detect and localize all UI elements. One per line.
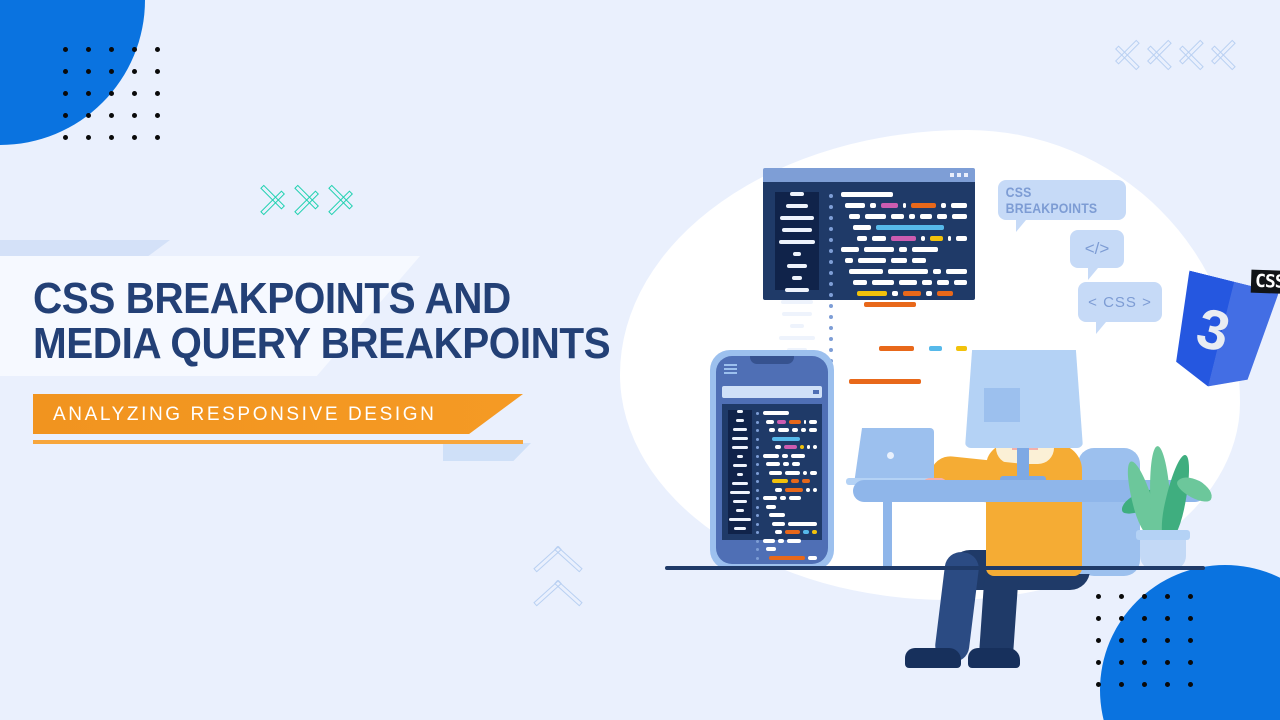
- plant-pot-rim: [1136, 530, 1190, 540]
- grid-dot: [109, 113, 114, 118]
- grid-dot: [1142, 660, 1147, 665]
- grid-dot: [63, 135, 68, 140]
- grid-dot: [132, 113, 137, 118]
- code-token: [876, 313, 884, 318]
- code-token: [787, 539, 801, 543]
- code-token: [879, 346, 914, 351]
- chevron-icon: [1144, 30, 1170, 76]
- code-token: [947, 346, 951, 351]
- desk-leg: [883, 500, 892, 568]
- code-token: [800, 445, 804, 449]
- grid-dot: [155, 91, 160, 96]
- code-token: [775, 445, 781, 449]
- code-line: [845, 203, 967, 208]
- gutter-dot: [829, 227, 833, 231]
- sidebar-line: [782, 228, 812, 232]
- code-token: [845, 258, 853, 263]
- decor-ribbon-upper: [0, 240, 170, 256]
- grid-dot: [63, 113, 68, 118]
- code-line: [853, 335, 967, 340]
- plant-pot: [1140, 536, 1186, 570]
- code-token: [785, 488, 803, 492]
- gutter-dot: [756, 514, 759, 517]
- gutter-dot: [829, 326, 833, 330]
- code-token: [785, 471, 800, 475]
- code-tag-bubble: </>: [1070, 230, 1124, 268]
- code-token: [766, 547, 776, 551]
- sidebar-line: [781, 300, 813, 304]
- code-token: [813, 445, 817, 449]
- gutter-dot: [756, 497, 759, 500]
- code-line: [849, 269, 967, 274]
- grid-dot: [1096, 682, 1101, 687]
- grid-dot: [1165, 638, 1170, 643]
- code-token: [864, 302, 915, 307]
- code-token: [775, 488, 782, 492]
- gutter-dot: [829, 271, 833, 275]
- code-token: [912, 258, 926, 263]
- code-token: [777, 420, 786, 424]
- code-token: [778, 539, 784, 543]
- code-token: [809, 428, 817, 432]
- sidebar-line: [779, 240, 815, 244]
- code-token: [899, 280, 917, 285]
- css-breakpoints-bubble: CSS BREAKPOINTS: [998, 180, 1126, 220]
- code-token: [853, 280, 867, 285]
- code-line: [775, 530, 817, 534]
- sidebar-line: [733, 500, 747, 503]
- window-titlebar: [763, 168, 975, 182]
- page-title: CSS BREAKPOINTS AND MEDIA QUERY BREAKPOI…: [33, 276, 610, 366]
- code-line: [845, 313, 967, 318]
- subtitle-text: ANALYZING RESPONSIVE DESIGN: [53, 404, 436, 426]
- sidebar-line: [733, 428, 747, 431]
- code-line: [857, 236, 967, 241]
- code-token: [783, 462, 789, 466]
- code-editor-window: [763, 168, 975, 300]
- phone-gutter-icons: [756, 412, 759, 565]
- code-line: [845, 258, 967, 263]
- code-token: [789, 496, 801, 500]
- gutter-dot: [756, 489, 759, 492]
- code-token: [853, 335, 885, 340]
- gutter-dot: [756, 540, 759, 543]
- code-token: [868, 357, 878, 362]
- code-token: [865, 214, 886, 219]
- grid-dot: [132, 69, 137, 74]
- sidebar-line: [737, 410, 743, 413]
- floor-line: [665, 566, 1205, 570]
- gutter-dot: [756, 523, 759, 526]
- code-token: [857, 291, 887, 296]
- gutter-dot: [829, 337, 833, 341]
- code-line: [769, 471, 817, 475]
- sidebar-line: [732, 482, 749, 485]
- code-line: [775, 445, 817, 449]
- code-token: [889, 313, 913, 318]
- gutter-dot: [756, 429, 759, 432]
- code-token: [803, 471, 807, 475]
- code-token: [909, 214, 915, 219]
- grid-dot: [109, 91, 114, 96]
- grid-dot: [1188, 660, 1193, 665]
- code-line: [853, 225, 967, 230]
- code-token: [929, 346, 943, 351]
- css3-label: CSS: [1251, 270, 1280, 294]
- sidebar-line: [729, 518, 751, 521]
- smartphone-mockup: [710, 350, 834, 570]
- code-token: [766, 420, 774, 424]
- code-token: [792, 428, 798, 432]
- code-tag-bubble-label: </>: [1085, 239, 1110, 259]
- code-token: [809, 420, 817, 424]
- code-line: [849, 324, 967, 329]
- grid-dot: [1142, 682, 1147, 687]
- code-token: [934, 302, 949, 307]
- gutter-dot: [756, 421, 759, 424]
- code-token: [788, 522, 817, 526]
- code-line: [766, 462, 817, 466]
- code-token: [951, 203, 967, 208]
- code-token: [883, 357, 909, 362]
- code-token: [763, 454, 779, 458]
- gutter-dot: [756, 506, 759, 509]
- code-token: [841, 357, 863, 362]
- grid-dot: [155, 47, 160, 52]
- chevron-icon: [535, 552, 581, 578]
- subtitle-underline: [33, 440, 523, 444]
- code-line: [763, 539, 817, 543]
- css-tag-bubble: < CSS >: [1078, 282, 1162, 322]
- code-token: [775, 530, 782, 534]
- code-token: [772, 522, 785, 526]
- gutter-dot: [829, 304, 833, 308]
- person-shoe-front: [905, 648, 961, 668]
- grid-dot: [155, 135, 160, 140]
- editor-sidebar: [775, 192, 819, 290]
- code-token: [772, 479, 788, 483]
- code-token: [872, 280, 894, 285]
- code-token: [849, 269, 883, 274]
- gutter-dot: [756, 531, 759, 534]
- code-token: [948, 236, 951, 241]
- code-token: [845, 368, 869, 373]
- grid-dot: [1096, 660, 1101, 665]
- code-token: [792, 462, 800, 466]
- phone-address-bar: [722, 386, 822, 398]
- code-token: [769, 471, 782, 475]
- sidebar-line: [732, 446, 749, 449]
- chevron-icon: [1112, 30, 1138, 76]
- code-line: [857, 346, 967, 351]
- gutter-dot: [829, 249, 833, 253]
- gutter-dot: [756, 480, 759, 483]
- sidebar-line: [785, 288, 809, 292]
- code-token: [804, 420, 806, 424]
- code-line: [763, 411, 817, 415]
- sidebar-line: [730, 491, 750, 494]
- grid-dot: [109, 135, 114, 140]
- code-token: [872, 236, 886, 241]
- sidebar-line: [737, 455, 743, 458]
- gutter-dot: [829, 260, 833, 264]
- editor-body: [763, 182, 975, 300]
- code-token: [937, 214, 947, 219]
- code-token: [921, 302, 929, 307]
- gutter-dot: [829, 205, 833, 209]
- grid-dot: [1165, 660, 1170, 665]
- banner-canvas: CSS BREAKPOINTS AND MEDIA QUERY BREAKPOI…: [0, 0, 1280, 720]
- code-token: [857, 236, 867, 241]
- sidebar-line: [780, 216, 814, 220]
- grid-dot: [1119, 682, 1124, 687]
- code-token: [858, 258, 886, 263]
- code-line: [772, 437, 817, 441]
- grid-dot: [132, 135, 137, 140]
- code-token: [920, 214, 932, 219]
- desktop-monitor: [965, 350, 1083, 448]
- code-token: [845, 203, 865, 208]
- code-token: [921, 236, 925, 241]
- code-token: [808, 556, 817, 560]
- code-token: [956, 236, 967, 241]
- code-line: [769, 428, 817, 432]
- code-token: [813, 488, 817, 492]
- chevron-icon: [262, 175, 288, 221]
- code-token: [763, 539, 775, 543]
- code-line: [841, 192, 967, 197]
- gutter-dot: [756, 412, 759, 415]
- monitor-mount: [984, 388, 1020, 422]
- sidebar-line: [736, 509, 744, 512]
- code-token: [845, 313, 871, 318]
- code-token: [891, 258, 907, 263]
- code-token: [891, 236, 915, 241]
- grid-dot: [1119, 638, 1124, 643]
- chevron-icon: [535, 586, 581, 612]
- potted-plant: [1114, 440, 1210, 570]
- code-token: [926, 291, 932, 296]
- code-line: [766, 420, 817, 424]
- gutter-dot: [829, 216, 833, 220]
- code-token: [933, 269, 941, 274]
- person-shoe-back: [968, 648, 1020, 668]
- grid-dot: [1188, 682, 1193, 687]
- grid-dot: [86, 113, 91, 118]
- code-token: [956, 346, 967, 351]
- sidebar-line: [782, 312, 812, 316]
- code-token: [810, 471, 817, 475]
- code-token: [841, 302, 859, 307]
- code-token: [922, 280, 932, 285]
- phone-code-lines: [763, 411, 817, 564]
- code-line: [857, 291, 967, 296]
- css-breakpoints-bubble-label: CSS BREAKPOINTS: [1006, 184, 1119, 216]
- code-token: [801, 428, 806, 432]
- grid-dot: [86, 47, 91, 52]
- code-token: [791, 479, 799, 483]
- code-token: [941, 203, 947, 208]
- code-token: [954, 280, 967, 285]
- laptop-logo-icon: [887, 452, 894, 459]
- code-token: [763, 496, 777, 500]
- code-token: [803, 530, 809, 534]
- sidebar-line: [734, 527, 745, 530]
- sidebar-line: [736, 419, 744, 422]
- code-token: [807, 445, 810, 449]
- sidebar-line: [793, 252, 801, 256]
- sidebar-line: [737, 473, 743, 476]
- code-token: [937, 280, 949, 285]
- code-token: [769, 513, 785, 517]
- code-line: [772, 522, 817, 526]
- code-token: [769, 428, 775, 432]
- grid-dot: [1096, 638, 1101, 643]
- gutter-dot: [829, 238, 833, 242]
- chevron-icon: [1208, 30, 1234, 76]
- grid-dot: [109, 47, 114, 52]
- code-line: [841, 302, 967, 307]
- grid-dot: [1188, 638, 1193, 643]
- code-token: [802, 479, 810, 483]
- gutter-dot: [829, 282, 833, 286]
- code-token: [780, 496, 786, 500]
- page-title-line-1: CSS BREAKPOINTS AND: [33, 274, 511, 323]
- sidebar-line: [732, 437, 749, 440]
- code-token: [890, 335, 958, 340]
- code-token: [789, 420, 801, 424]
- code-token: [899, 247, 907, 252]
- sidebar-line: [787, 264, 807, 268]
- code-line: [849, 214, 967, 219]
- grid-dot: [1142, 638, 1147, 643]
- grid-dot: [1165, 682, 1170, 687]
- css-tag-bubble-label: < CSS >: [1088, 294, 1152, 311]
- laptop-screen: [854, 428, 934, 484]
- code-token: [766, 505, 776, 509]
- grid-dot: [86, 135, 91, 140]
- chevron-icon: [296, 175, 322, 221]
- code-token: [903, 291, 921, 296]
- page-title-line-2: MEDIA QUERY BREAKPOINTS: [33, 319, 610, 368]
- gutter-dot: [829, 293, 833, 297]
- code-token: [903, 203, 906, 208]
- gutter-dot: [756, 446, 759, 449]
- code-line: [763, 454, 817, 458]
- gutter-dot: [756, 472, 759, 475]
- code-line: [769, 556, 817, 560]
- code-line: [845, 368, 967, 373]
- code-token: [912, 247, 938, 252]
- sidebar-line: [790, 324, 804, 328]
- code-token: [937, 291, 953, 296]
- code-token: [791, 454, 805, 458]
- phone-notch: [750, 356, 794, 364]
- code-token: [772, 437, 800, 441]
- sidebar-line: [786, 204, 808, 208]
- code-token: [841, 247, 859, 252]
- phone-screen: [722, 404, 822, 540]
- code-token: [778, 428, 789, 432]
- grid-dot: [86, 69, 91, 74]
- grid-dot: [155, 113, 160, 118]
- chevron-icon: [1176, 30, 1202, 76]
- grid-dot: [86, 91, 91, 96]
- code-token: [870, 203, 876, 208]
- code-token: [782, 454, 788, 458]
- grid-dot: [63, 69, 68, 74]
- code-line: [766, 547, 817, 551]
- dot-grid-top-left: [63, 47, 178, 157]
- grid-dot: [132, 47, 137, 52]
- grid-dot: [63, 91, 68, 96]
- code-line: [769, 513, 817, 517]
- code-line: [766, 505, 817, 509]
- code-line: [841, 247, 967, 252]
- grid-dot: [132, 91, 137, 96]
- grid-dot: [155, 69, 160, 74]
- code-token: [853, 225, 871, 230]
- code-token: [849, 379, 921, 384]
- code-token: [864, 247, 894, 252]
- phone-editor-sidebar: [728, 410, 752, 534]
- code-token: [876, 225, 944, 230]
- code-token: [881, 203, 898, 208]
- code-token: [946, 269, 967, 274]
- window-controls-icon: [950, 173, 968, 177]
- sidebar-line: [792, 276, 802, 280]
- sidebar-line: [779, 336, 815, 340]
- code-token: [849, 214, 860, 219]
- code-token: [857, 346, 874, 351]
- chevron-icon: [330, 175, 356, 221]
- code-token: [769, 556, 805, 560]
- gutter-dot: [829, 315, 833, 319]
- code-token: [911, 203, 936, 208]
- grid-dot: [63, 47, 68, 52]
- code-token: [891, 214, 904, 219]
- code-token: [849, 324, 883, 329]
- gutter-dot: [756, 557, 759, 560]
- code-token: [784, 445, 797, 449]
- sidebar-line: [790, 192, 804, 196]
- code-token: [763, 411, 789, 415]
- code-line: [772, 479, 817, 483]
- code-token: [806, 488, 810, 492]
- code-line: [775, 488, 817, 492]
- gutter-dot: [829, 194, 833, 198]
- code-token: [812, 530, 817, 534]
- editor-code-lines: [841, 192, 967, 390]
- gutter-dot: [756, 463, 759, 466]
- gutter-dot: [756, 438, 759, 441]
- hamburger-menu-icon: [724, 364, 737, 376]
- code-token: [892, 291, 898, 296]
- sidebar-line: [733, 464, 747, 467]
- code-token: [952, 214, 967, 219]
- code-token: [954, 302, 967, 307]
- code-line: [841, 357, 967, 362]
- code-line: [849, 379, 967, 384]
- code-token: [919, 346, 924, 351]
- code-line: [853, 280, 967, 285]
- code-token: [766, 462, 780, 466]
- code-line: [763, 496, 817, 500]
- grid-dot: [109, 69, 114, 74]
- code-token: [785, 530, 800, 534]
- decor-ribbon-lower: [443, 443, 531, 461]
- code-token: [888, 269, 928, 274]
